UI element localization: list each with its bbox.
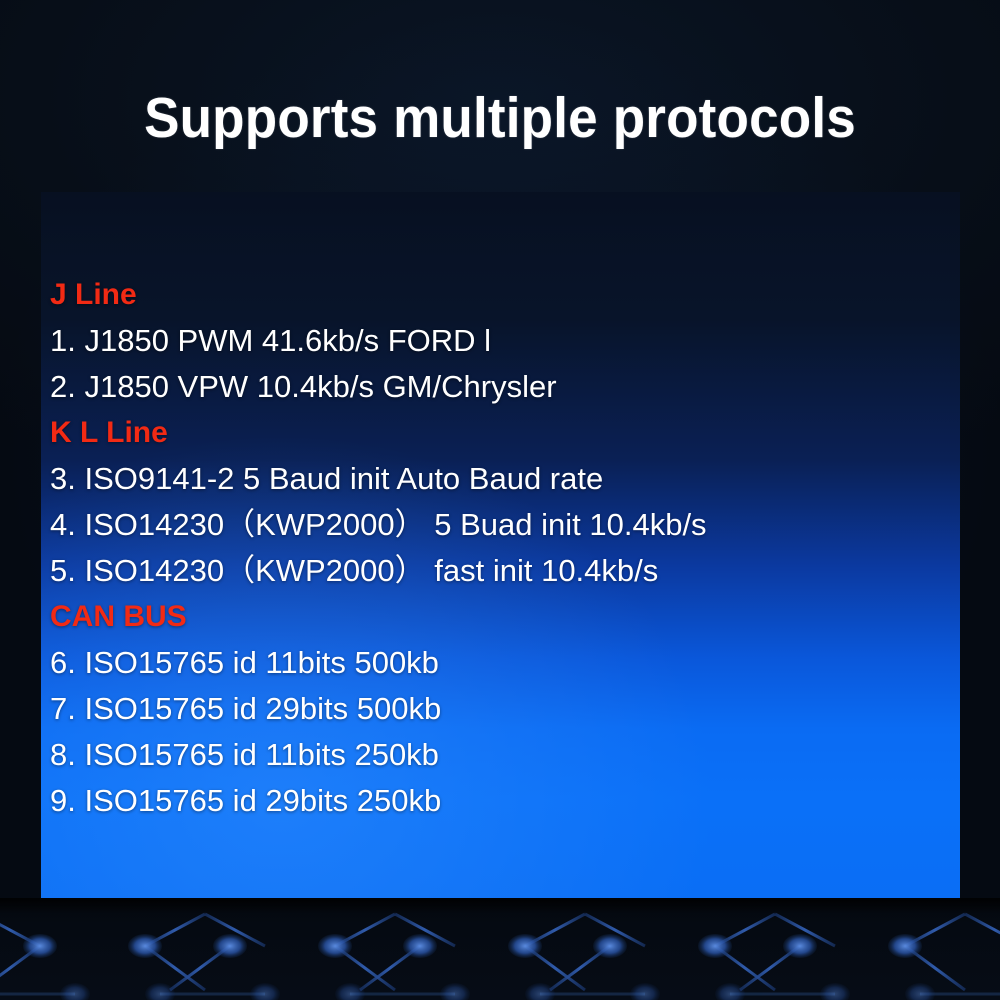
protocol-list-item: 3. ISO9141-2 5 Baud init Auto Baud rate xyxy=(50,456,960,502)
protocol-group-heading: K L Line xyxy=(50,410,960,456)
protocol-list-item: 2. J1850 VPW 10.4kb/s GM/Chrysler xyxy=(50,364,960,410)
protocol-list-item: 5. ISO14230（KWP2000） fast init 10.4kb/s xyxy=(50,548,960,594)
protocol-panel: J Line1. J1850 PWM 41.6kb/s FORD l2. J18… xyxy=(41,192,960,898)
page-title: Supports multiple protocols xyxy=(35,86,965,150)
protocol-list-item: 4. ISO14230（KWP2000） 5 Buad init 10.4kb/… xyxy=(50,502,960,548)
protocol-list-item: 8. ISO15765 id 11bits 250kb xyxy=(50,732,960,778)
protocol-list-item: 7. ISO15765 id 29bits 500kb xyxy=(50,686,960,732)
product-feature-slide: Supports multiple protocols J Line1. J18… xyxy=(0,0,1000,1000)
protocol-group-heading: CAN BUS xyxy=(50,594,960,640)
protocol-list-item: 6. ISO15765 id 11bits 500kb xyxy=(50,640,960,686)
protocol-list-item: 9. ISO15765 id 29bits 250kb xyxy=(50,778,960,824)
protocol-group-heading: J Line xyxy=(50,272,960,318)
hexagon-network-pattern xyxy=(0,898,1000,1000)
protocol-list-item: 1. J1850 PWM 41.6kb/s FORD l xyxy=(50,318,960,364)
protocol-list: J Line1. J1850 PWM 41.6kb/s FORD l2. J18… xyxy=(50,272,960,824)
